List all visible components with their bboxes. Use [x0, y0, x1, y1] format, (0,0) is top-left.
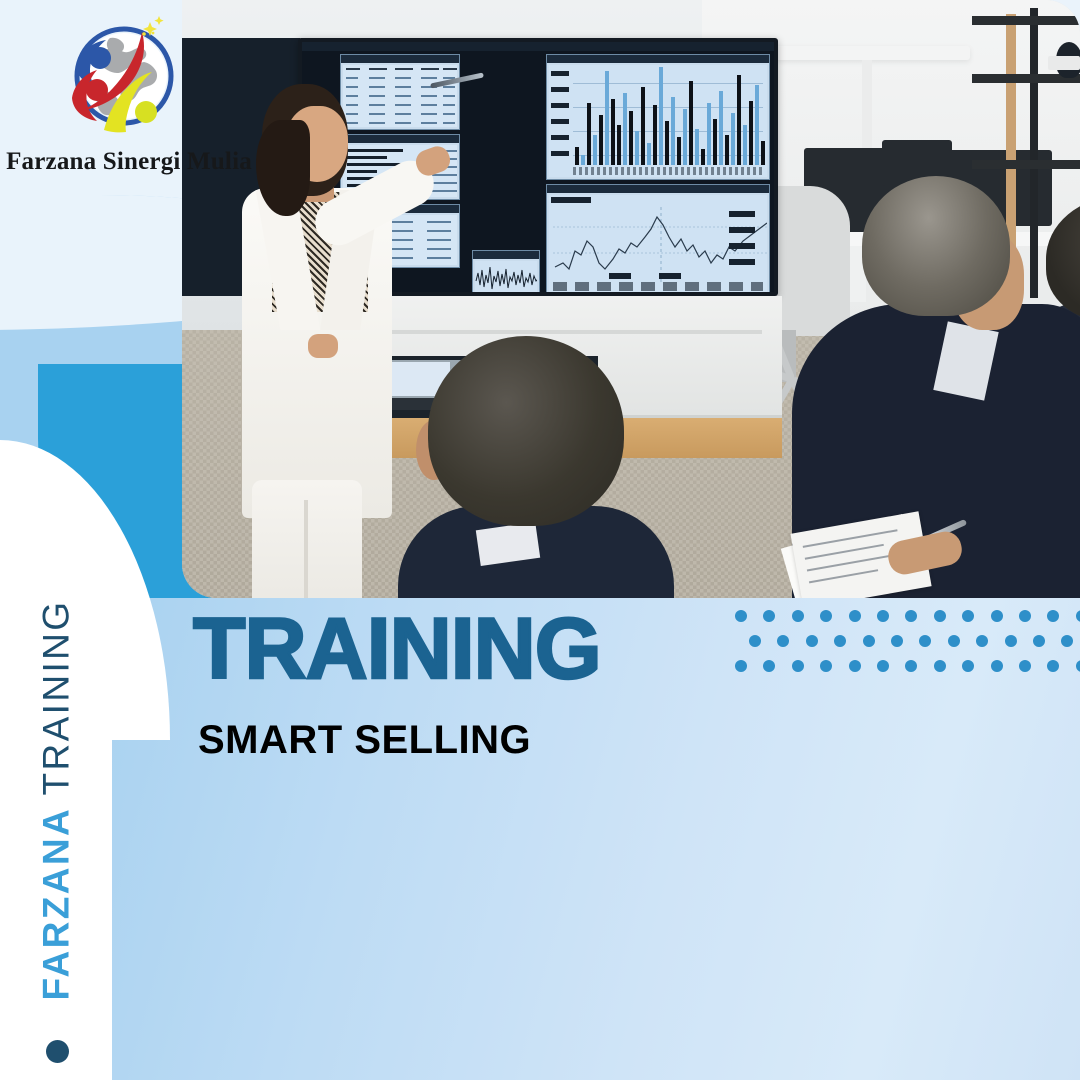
line-chart-panel	[546, 184, 770, 292]
dot	[763, 610, 775, 622]
shelf-board	[972, 16, 1080, 25]
dot	[834, 635, 846, 647]
audience-hair	[428, 336, 624, 526]
vertical-brand-label: FARZANA TRAINING	[20, 580, 92, 1020]
dot	[991, 610, 1003, 622]
screen-titlebar	[302, 42, 774, 51]
dot	[792, 660, 804, 672]
dot-grid-row	[735, 660, 1080, 672]
light-stem	[862, 60, 872, 160]
dot	[820, 660, 832, 672]
dot	[976, 635, 988, 647]
page-title: TRAINING	[193, 606, 601, 692]
page-subtitle: SMART SELLING	[198, 718, 531, 763]
dot	[849, 610, 861, 622]
dot	[1005, 635, 1017, 647]
dot	[863, 635, 875, 647]
poster-canvas: Farzana Sinergi Mulia FARZANA TRAINING T…	[0, 0, 1080, 1080]
company-name: Farzana Sinergi Mulia	[0, 148, 258, 176]
dot	[991, 660, 1003, 672]
dot	[1019, 660, 1031, 672]
dot	[877, 610, 889, 622]
vertical-label-secondary: TRAINING	[35, 600, 76, 796]
bar-chart-panel	[546, 54, 770, 180]
dot	[877, 660, 889, 672]
dot	[905, 660, 917, 672]
panel-header	[473, 251, 539, 259]
dot	[1047, 660, 1059, 672]
panel-header	[547, 185, 769, 193]
dot	[1076, 660, 1080, 672]
panel-body	[549, 195, 767, 292]
dot	[962, 660, 974, 672]
dot	[1076, 610, 1080, 622]
dot	[934, 660, 946, 672]
brand-logo-block: Farzana Sinergi Mulia	[0, 8, 258, 188]
dot	[777, 635, 789, 647]
presenter-hand-lower	[308, 334, 338, 358]
dot-grid-row	[735, 610, 1080, 622]
dot	[749, 635, 761, 647]
dot	[763, 660, 775, 672]
dot	[806, 635, 818, 647]
dot	[891, 635, 903, 647]
dot	[849, 660, 861, 672]
dot	[820, 610, 832, 622]
vertical-label-primary: FARZANA	[35, 808, 76, 1000]
dot	[1033, 635, 1045, 647]
dot	[792, 610, 804, 622]
dot	[934, 610, 946, 622]
waveform-panel	[472, 250, 540, 292]
ceiling-light	[770, 46, 970, 60]
panel-body	[475, 261, 537, 292]
dot	[1047, 610, 1059, 622]
audience-hair	[862, 176, 1010, 316]
panel-body	[549, 65, 767, 177]
dot	[905, 610, 917, 622]
audience-person-front	[422, 330, 652, 598]
dot	[735, 660, 747, 672]
training-photo	[182, 0, 1080, 598]
dot-grid-decoration	[735, 610, 1080, 672]
waveform-sparkline	[475, 261, 537, 292]
shelf-board	[972, 160, 1080, 169]
dot	[962, 610, 974, 622]
farzana-logo-icon	[58, 14, 190, 142]
presenter-leg-seam	[304, 500, 308, 598]
dot	[735, 610, 747, 622]
shelf-books	[1048, 56, 1080, 70]
panel-header	[547, 55, 769, 63]
dot	[948, 635, 960, 647]
dot-grid-row	[749, 635, 1080, 647]
dot	[919, 635, 931, 647]
dot	[1061, 635, 1073, 647]
dot	[1019, 610, 1031, 622]
bullet-dot	[46, 1040, 69, 1063]
